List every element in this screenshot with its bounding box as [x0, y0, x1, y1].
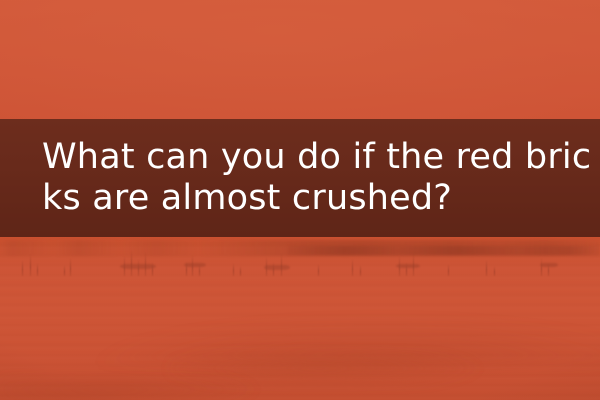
caption-banner: What can you do if the red bric ks are a… [0, 119, 600, 237]
image-canvas: What can you do if the red bric ks are a… [0, 0, 600, 400]
caption-text: What can you do if the red bric ks are a… [0, 137, 591, 219]
